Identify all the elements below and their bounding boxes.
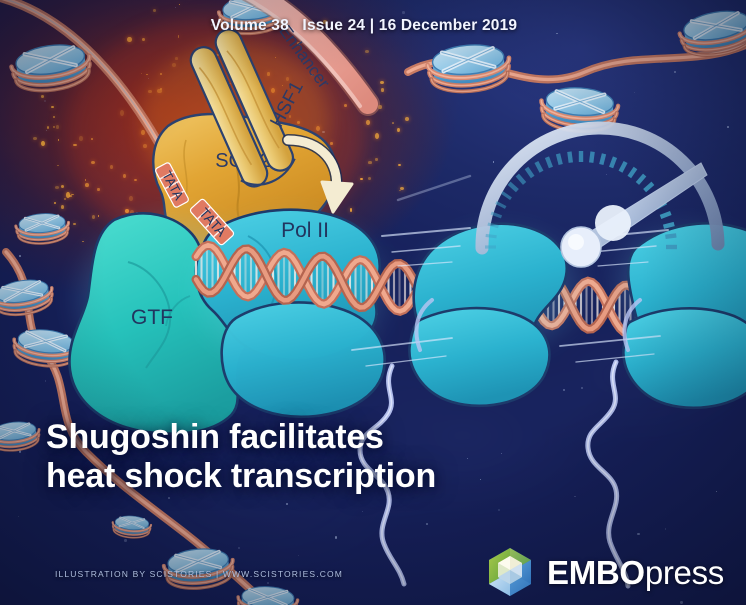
illustration-layer: Enhancer SGO2 HSF1 <box>0 0 746 605</box>
gauge-tick <box>664 224 675 227</box>
gauge-tick <box>621 162 626 172</box>
gauge-tick <box>527 168 533 177</box>
title-line-1: Shugoshin facilitates <box>46 418 436 457</box>
gauge-tick <box>637 175 644 183</box>
embo-press-wordmark: EMBOpress <box>547 556 724 589</box>
gauge-tick <box>547 157 551 167</box>
gauge-tick <box>665 235 676 236</box>
gauge-tick <box>536 162 541 172</box>
gauge-tick <box>486 235 497 236</box>
nucleosome <box>426 42 511 95</box>
gauge-tick <box>509 183 517 190</box>
gauge-tick <box>645 183 653 190</box>
issue-line: Volume 38 Issue 24 | 16 December 2019 <box>0 17 746 35</box>
gauge-tick <box>558 154 561 165</box>
gauge-tick <box>496 202 506 207</box>
gauge-tick <box>569 152 570 163</box>
page-title: Shugoshin facilitates heat shock transcr… <box>46 418 436 497</box>
press-light: press <box>645 554 724 591</box>
embo-cube-icon <box>487 547 533 597</box>
gauge-tick <box>629 168 635 177</box>
gauge-tick <box>491 213 501 217</box>
gauge-tick <box>502 193 511 199</box>
pol2-lower-blob <box>222 302 385 416</box>
nucleosome <box>112 515 152 539</box>
gauge-tick <box>517 175 524 183</box>
gauge-tick <box>661 213 671 217</box>
journal-cover: Enhancer SGO2 HSF1 <box>0 0 746 605</box>
nucleosome <box>15 212 70 245</box>
illustration-credit: ILLUSTRATION BY SCISTORIES | WWW.SCISTOR… <box>55 569 343 579</box>
label-pol2: Pol II <box>281 219 329 242</box>
embo-bold: EMBO <box>547 554 645 591</box>
gauge-tick <box>601 154 604 165</box>
nucleosome <box>0 276 55 318</box>
embo-press-logo[interactable]: EMBOpress <box>487 547 724 597</box>
title-line-2: heat shock transcription <box>46 457 436 496</box>
gauge-tick <box>591 152 592 163</box>
gauge-tick <box>611 157 615 167</box>
nucleosome <box>0 420 41 453</box>
label-gtf: GTF <box>131 306 173 329</box>
